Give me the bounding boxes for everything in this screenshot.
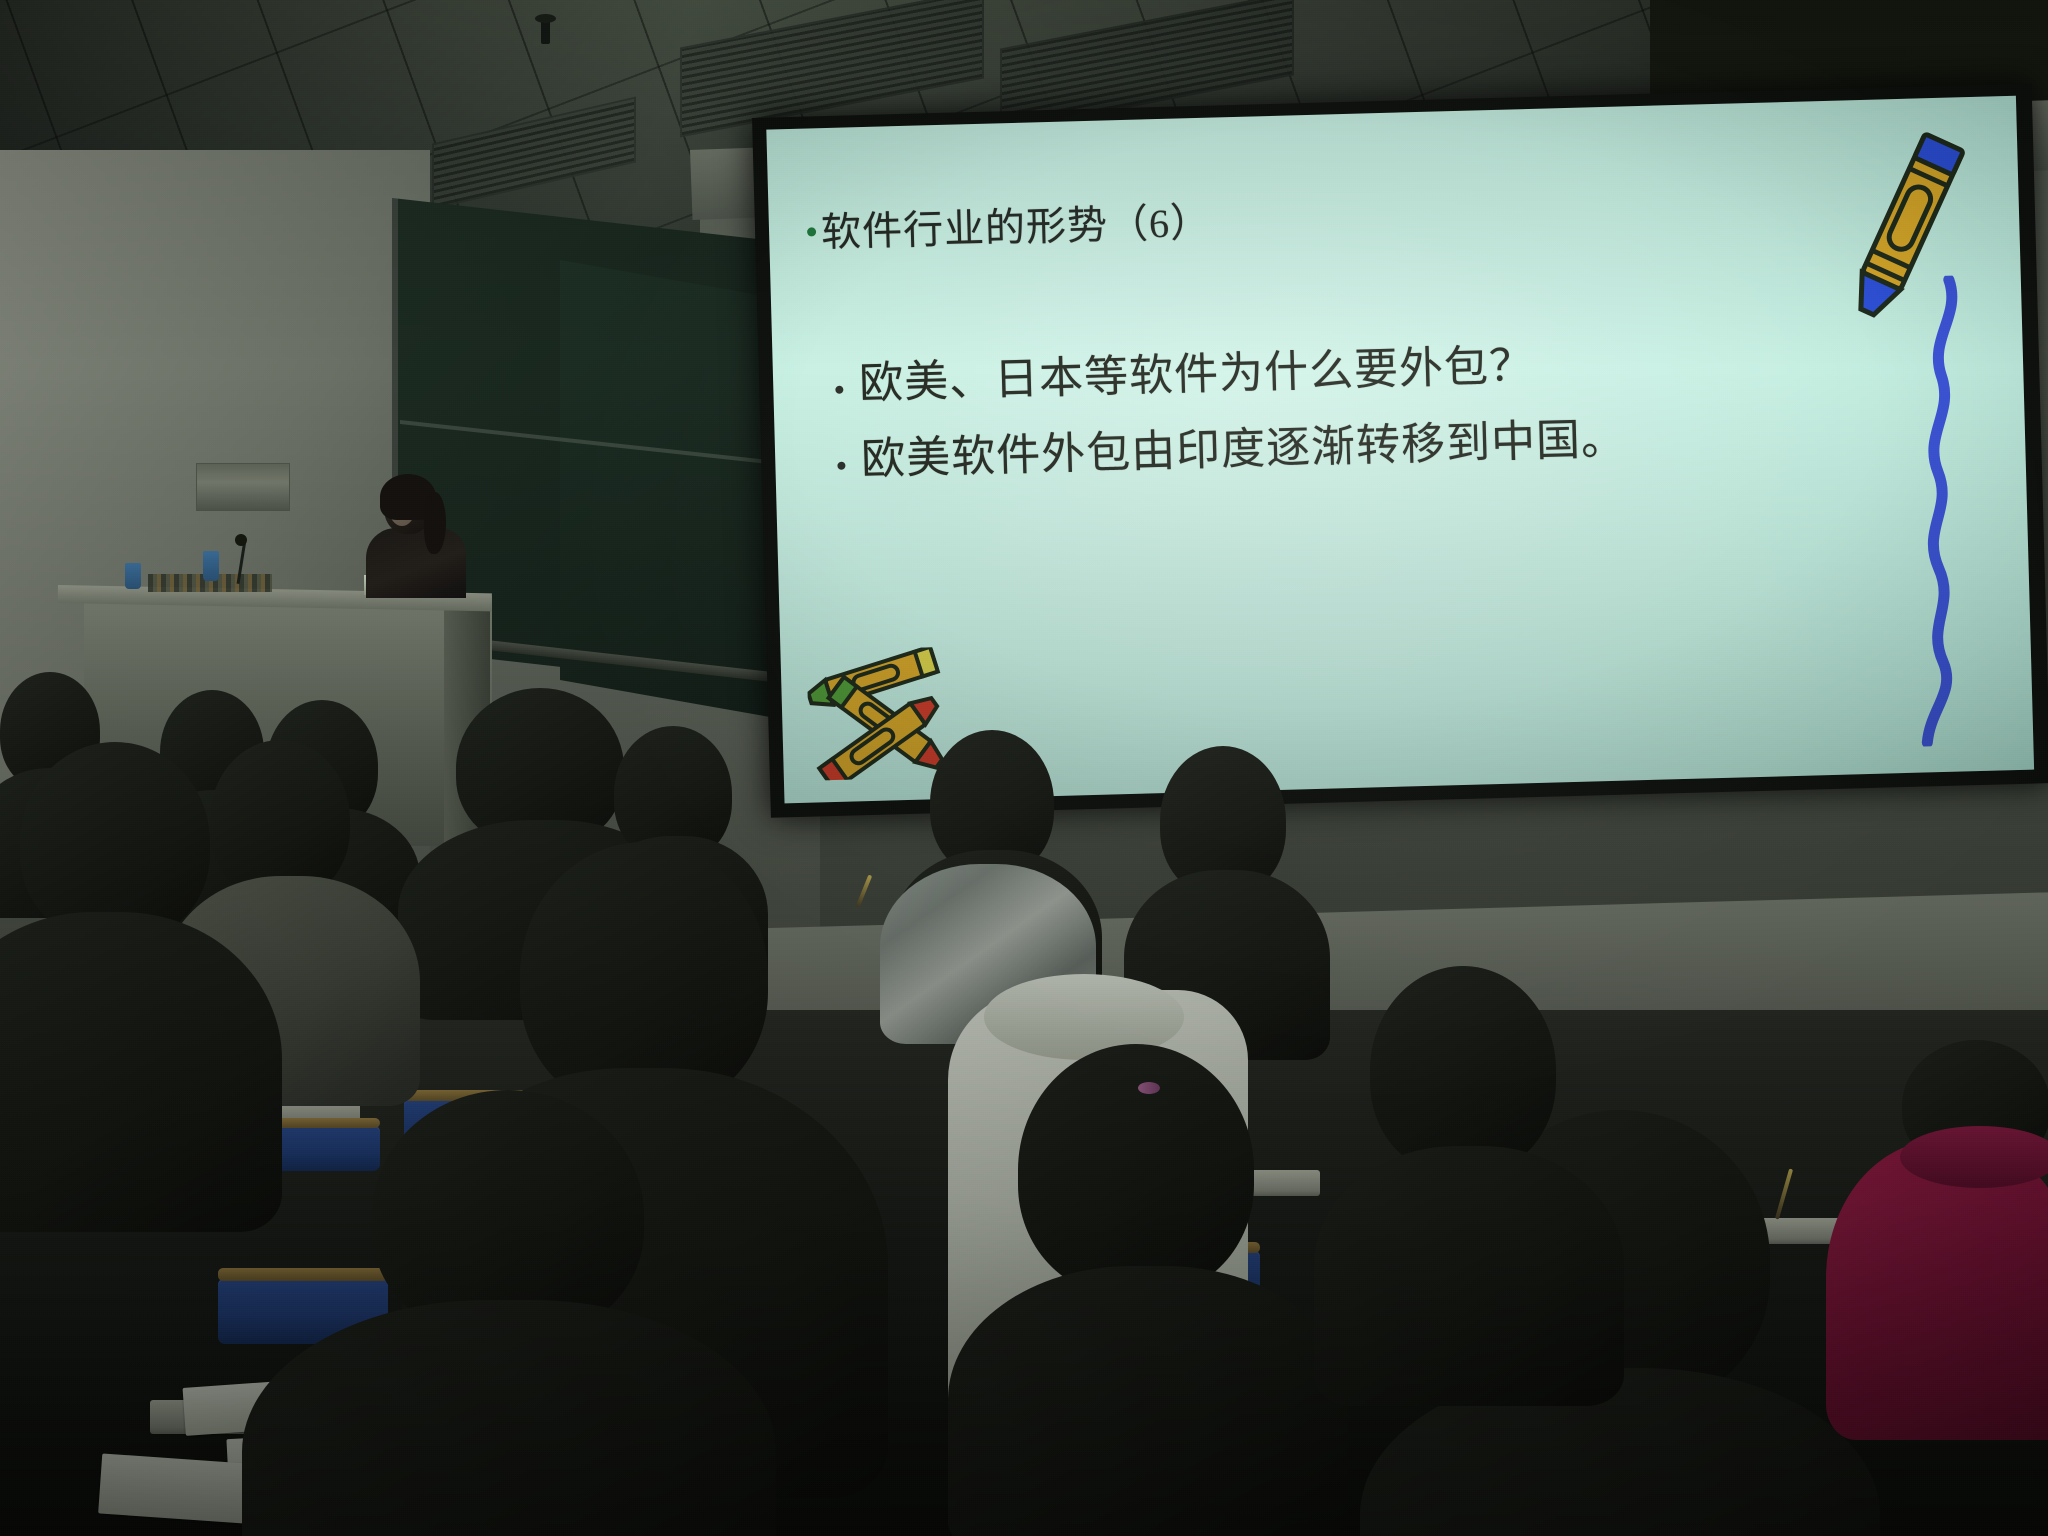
lecturer-hair-side bbox=[424, 492, 446, 554]
slide-bullet-item: 欧美软件外包由印度逐渐转移到中国。 bbox=[837, 411, 1658, 487]
hair-tie bbox=[1138, 1082, 1160, 1094]
lecture-hall-photo: 软件行业的形势（6） 欧美、日本等软件为什么要外包？ 欧美软件外包由印度逐渐转移… bbox=[0, 0, 2048, 1536]
squiggle-line-icon bbox=[1875, 274, 2008, 747]
projection-screen: 软件行业的形势（6） 欧美、日本等软件为什么要外包？ 欧美软件外包由印度逐渐转移… bbox=[752, 83, 2048, 817]
hood-collar bbox=[1900, 1126, 2048, 1188]
seat-trim bbox=[218, 1268, 388, 1281]
slide-bullet-text: 欧美、日本等软件为什么要外包？ bbox=[859, 339, 1535, 411]
slide-title: 软件行业的形势（6） bbox=[820, 190, 1211, 259]
wall-plaque bbox=[196, 463, 290, 511]
slide-bullet-item: 欧美、日本等软件为什么要外包？ bbox=[835, 336, 1656, 412]
bullet-dot-icon bbox=[835, 386, 843, 394]
blue-cup bbox=[125, 563, 141, 589]
title-bullet-icon bbox=[807, 227, 816, 236]
lecturer-body bbox=[366, 528, 466, 598]
slide-surface: 软件行业的形势（6） 欧美、日本等软件为什么要外包？ 欧美软件外包由印度逐渐转移… bbox=[766, 96, 2034, 804]
slide-bullet-list: 欧美、日本等软件为什么要外包？ 欧美软件外包由印度逐渐转移到中国。 bbox=[835, 336, 1659, 509]
bullet-dot-icon bbox=[837, 461, 845, 469]
microphone-icon bbox=[235, 534, 247, 546]
blue-cup bbox=[203, 551, 219, 581]
slide-bullet-text: 欧美软件外包由印度逐渐转移到中国。 bbox=[861, 412, 1627, 486]
